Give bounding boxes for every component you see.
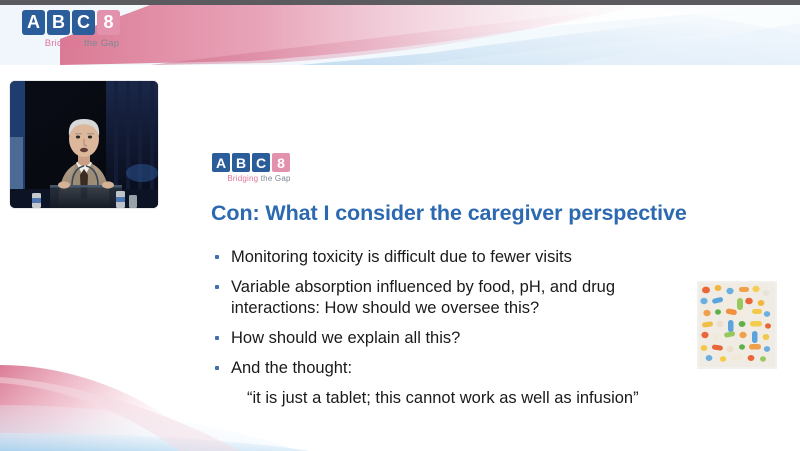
brand-logo-tiles: A B C 8 bbox=[22, 10, 122, 35]
top-chrome-bar bbox=[0, 0, 800, 5]
bullet-text: Monitoring toxicity is difficult due to … bbox=[231, 247, 681, 268]
brand-tile-8: 8 bbox=[97, 10, 120, 35]
brand-tagline: Bridging the Gap bbox=[22, 38, 122, 49]
bullet-item: And the thought: bbox=[211, 358, 681, 379]
bullet-text: And the thought: bbox=[231, 358, 681, 379]
presentation-screen: A B C 8 Bridging the Gap bbox=[0, 0, 800, 451]
slide-brand-tile-a: A bbox=[212, 153, 230, 172]
brand-tagline-rest: the Gap bbox=[81, 38, 119, 49]
bullet-text: How should we explain all this? bbox=[231, 328, 681, 349]
bullet-item: Variable absorption influenced by food, … bbox=[211, 277, 681, 319]
brand-tagline-accent: Bridging bbox=[45, 38, 81, 49]
slide-brand-logo: A B C 8 Bridging the Gap bbox=[212, 153, 292, 183]
bullet-marker-icon bbox=[215, 336, 219, 340]
bullet-marker-icon bbox=[215, 255, 219, 259]
brand-tile-c: C bbox=[72, 10, 95, 35]
speaker-video-graphic bbox=[10, 81, 158, 208]
slide-brand-tile-c: C bbox=[252, 153, 270, 172]
bullet-text: Variable absorption influenced by food, … bbox=[231, 277, 681, 319]
slide-bullet-list: Monitoring toxicity is difficult due to … bbox=[211, 247, 681, 408]
header-brand-logo: A B C 8 Bridging the Gap bbox=[22, 10, 122, 49]
slide-brand-tagline-rest: the Gap bbox=[258, 174, 290, 183]
slide-brand-tagline: Bridging the Gap bbox=[212, 174, 292, 183]
speaker-video-thumbnail[interactable] bbox=[10, 81, 158, 208]
slide-brand-tagline-accent: Bridging bbox=[227, 174, 258, 183]
bullet-item: How should we explain all this? bbox=[211, 328, 681, 349]
pills-photo-graphic bbox=[699, 283, 771, 363]
slide-brand-logo-tiles: A B C 8 bbox=[212, 153, 292, 172]
bullet-marker-icon bbox=[215, 285, 219, 289]
slide-quote: “it is just a tablet; this cannot work a… bbox=[247, 389, 681, 408]
brand-tile-b: B bbox=[47, 10, 70, 35]
pills-photo bbox=[697, 281, 777, 369]
bullet-marker-icon bbox=[215, 366, 219, 370]
bullet-item: Monitoring toxicity is difficult due to … bbox=[211, 247, 681, 268]
brand-tile-a: A bbox=[22, 10, 45, 35]
slide-brand-tile-b: B bbox=[232, 153, 250, 172]
slide-title: Con: What I consider the caregiver persp… bbox=[211, 201, 771, 226]
slide-brand-tile-8: 8 bbox=[272, 153, 290, 172]
